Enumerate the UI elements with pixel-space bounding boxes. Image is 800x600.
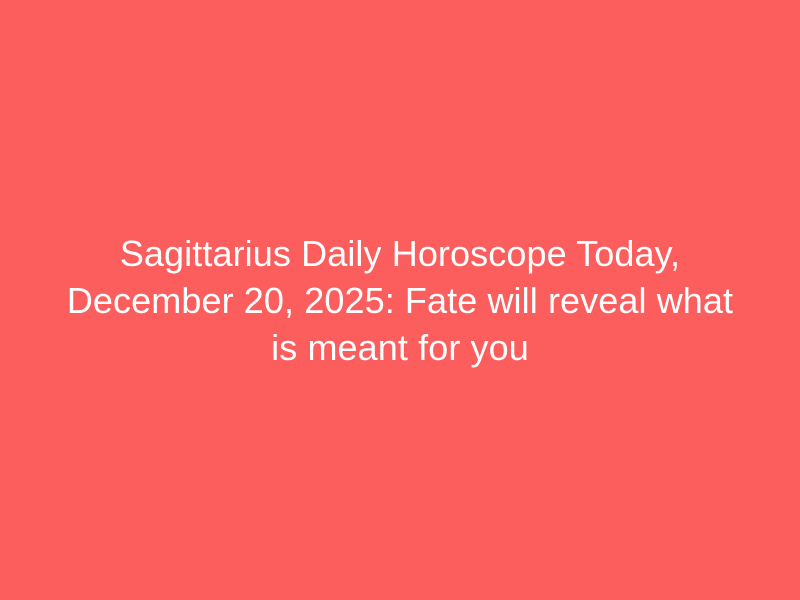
page-title: Sagittarius Daily Horoscope Today, Decem…	[60, 230, 740, 371]
share-card: Sagittarius Daily Horoscope Today, Decem…	[0, 0, 800, 600]
headline-block: Sagittarius Daily Horoscope Today, Decem…	[50, 230, 750, 371]
